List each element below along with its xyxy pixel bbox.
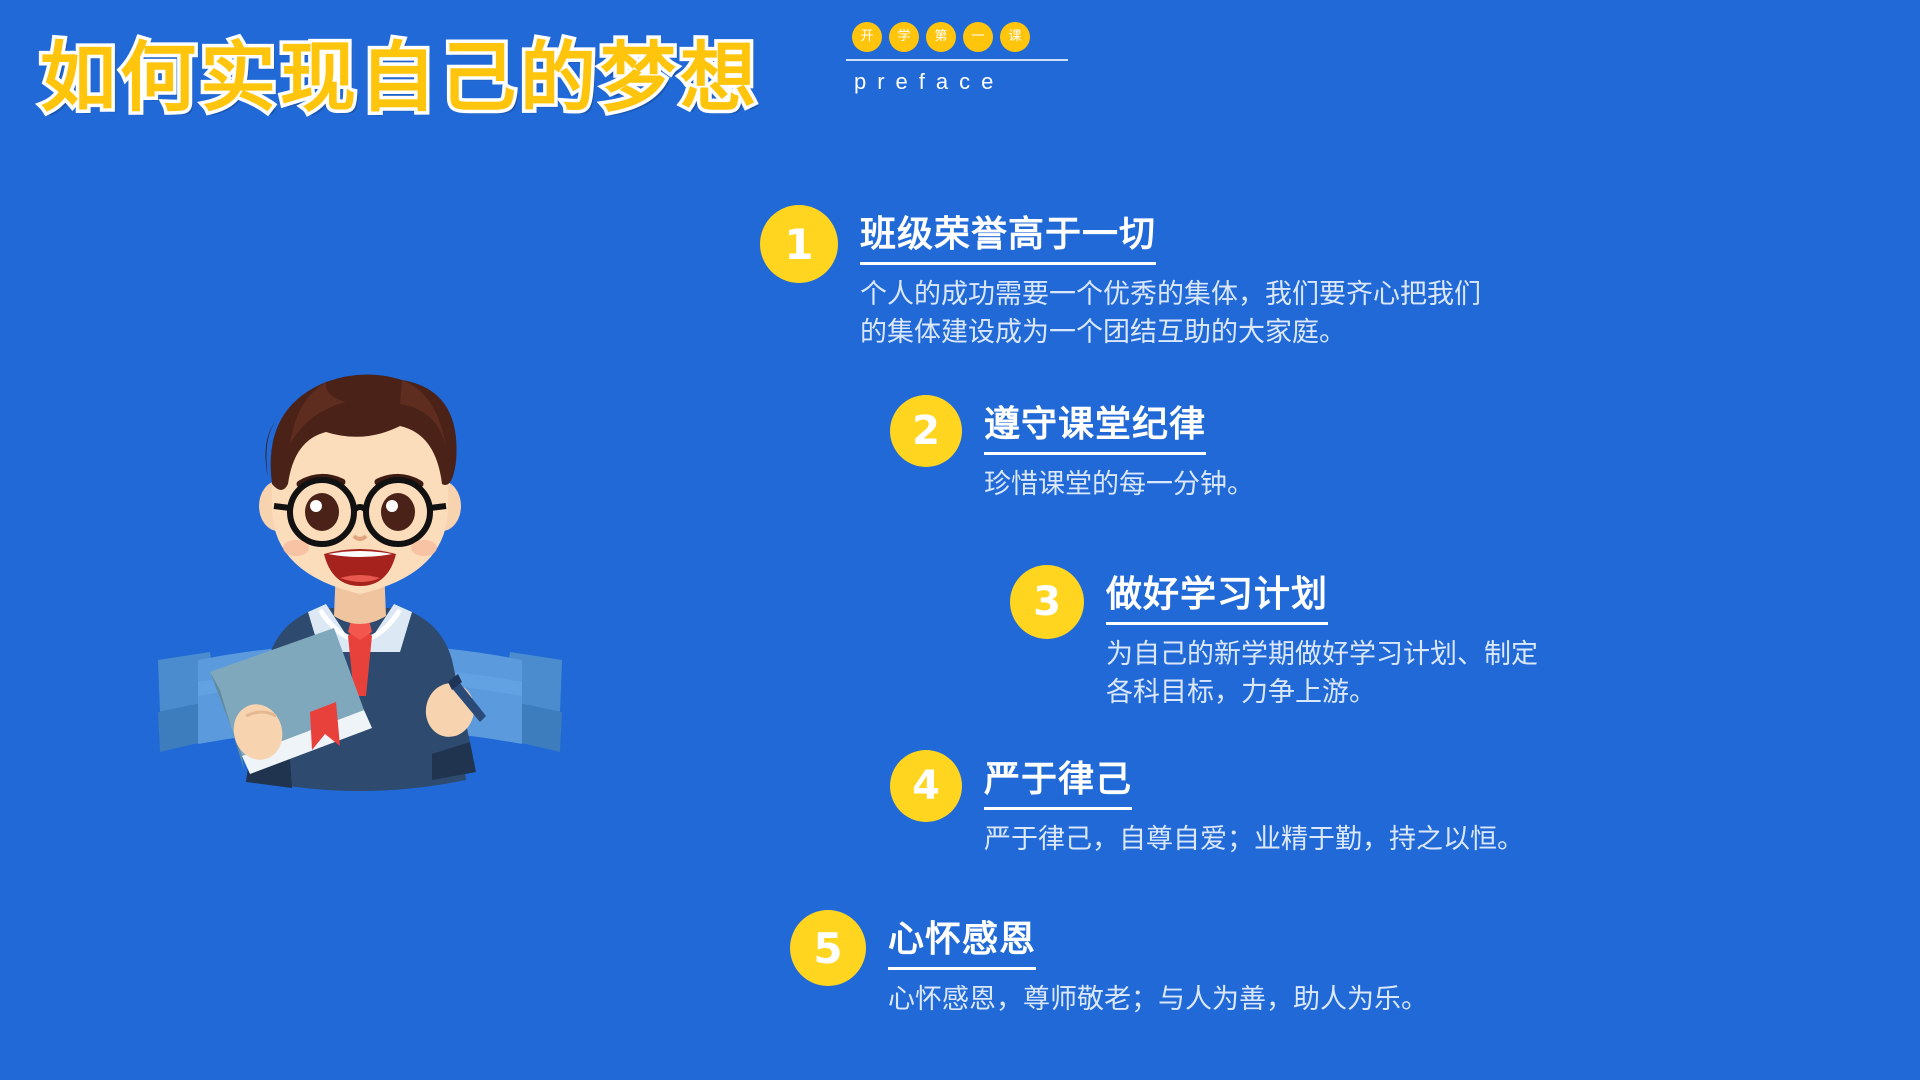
cheek-left: [283, 540, 309, 556]
list-item-number: 3: [1010, 565, 1084, 639]
badge-divider: [846, 59, 1068, 61]
student-illustration-svg: [150, 360, 570, 920]
list-item-number: 2: [890, 395, 962, 467]
slide-header: 如何实现自己的梦想 如何实现自己的梦想 开 学 第 一 课 preface: [0, 0, 1920, 130]
list-item[interactable]: 1 班级荣誉高于一切 个人的成功需要一个优秀的集体，我们要齐心把我们 的集体建设…: [760, 205, 1481, 353]
list-item-desc: 心怀感恩，尊师敬老；与人为善，助人为乐。: [888, 981, 1428, 1019]
list-item-number: 5: [790, 910, 866, 986]
list-item-title: 心怀感恩: [888, 910, 1036, 970]
list-item[interactable]: 2 遵守课堂纪律 珍惜课堂的每一分钟。: [890, 395, 1254, 504]
list-item-title: 班级荣誉高于一切: [860, 205, 1156, 265]
list-item-desc: 为自己的新学期做好学习计划、制定 各科目标，力争上游。: [1106, 636, 1538, 713]
list-item-title: 严于律己: [984, 750, 1132, 810]
page-title: 如何实现自己的梦想: [40, 16, 760, 126]
student-illustration: [150, 360, 570, 920]
list-item-number: 1: [760, 205, 838, 283]
list-item[interactable]: 4 严于律己 严于律己，自尊自爱；业精于勤，持之以恒。: [890, 750, 1524, 859]
list-item-title: 遵守课堂纪律: [984, 395, 1206, 455]
badge-char-5: 课: [1000, 22, 1030, 52]
slide-canvas: 如何实现自己的梦想 如何实现自己的梦想 开 学 第 一 课 preface: [0, 0, 1920, 1080]
badge-char-4: 一: [963, 22, 993, 52]
cheek-right: [411, 540, 437, 556]
header-badge: 开 学 第 一 课 preface: [846, 22, 1076, 95]
list-item-title: 做好学习计划: [1106, 565, 1328, 625]
list-item[interactable]: 3 做好学习计划 为自己的新学期做好学习计划、制定 各科目标，力争上游。: [1010, 565, 1538, 713]
badge-circle-row: 开 学 第 一 课: [846, 22, 1076, 52]
badge-char-3: 第: [926, 22, 956, 52]
list-item[interactable]: 5 心怀感恩 心怀感恩，尊师敬老；与人为善，助人为乐。: [790, 910, 1428, 1019]
list-item-desc: 个人的成功需要一个优秀的集体，我们要齐心把我们 的集体建设成为一个团结互助的大家…: [860, 276, 1481, 353]
list-item-number: 4: [890, 750, 962, 822]
badge-subtitle: preface: [846, 69, 1076, 95]
badge-char-1: 开: [852, 22, 882, 52]
badge-char-2: 学: [889, 22, 919, 52]
list-item-desc: 珍惜课堂的每一分钟。: [984, 466, 1254, 504]
list-item-desc: 严于律己，自尊自爱；业精于勤，持之以恒。: [984, 821, 1524, 859]
